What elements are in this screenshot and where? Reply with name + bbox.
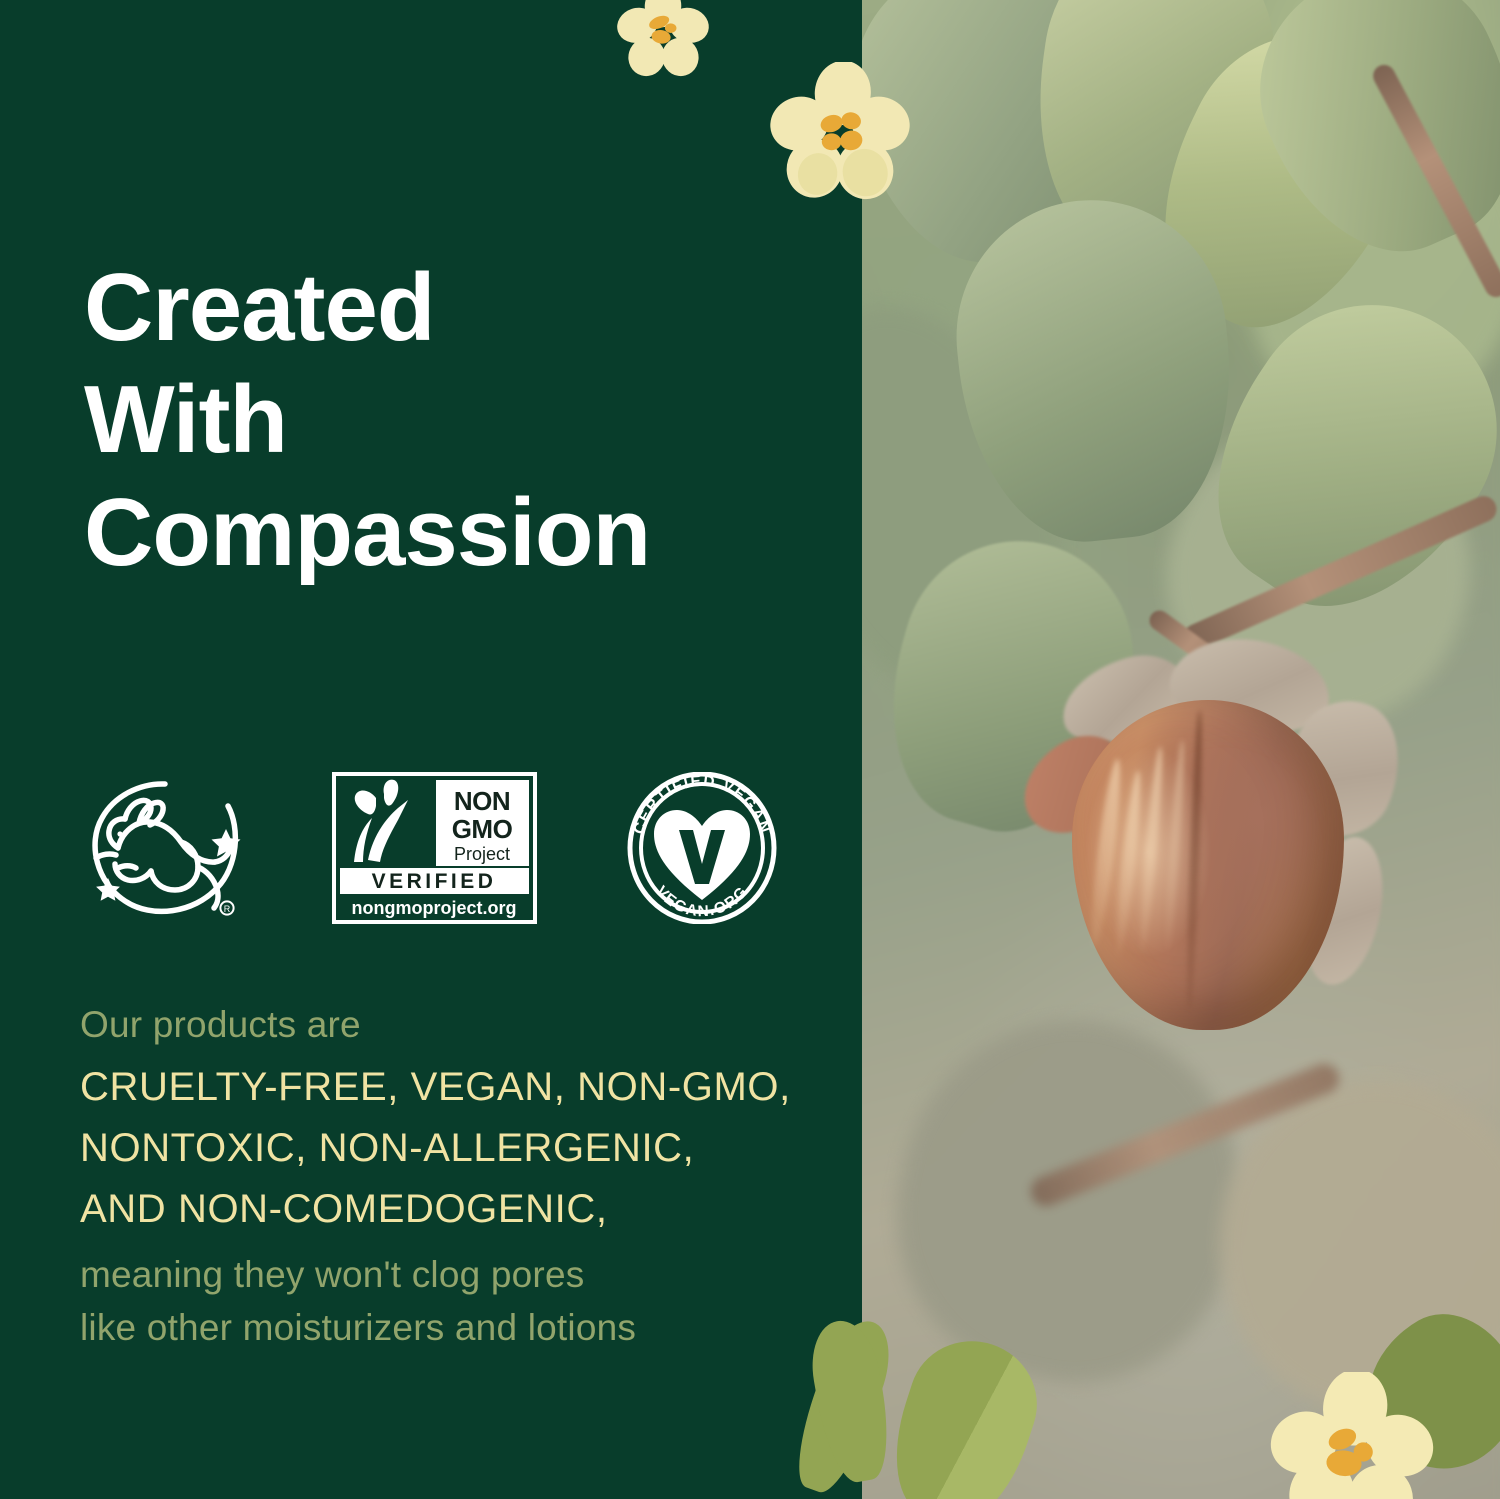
nut-ridge (1137, 746, 1166, 951)
claims-footnote: meaning they won't clog pores like other… (80, 1248, 840, 1355)
non-gmo-line-non: NON (454, 786, 510, 816)
leaping-bunny-icon: R (78, 772, 246, 924)
headline-line-3: Compassion (84, 477, 650, 589)
non-gmo-url: nongmoproject.org (352, 898, 517, 918)
flower-icon (608, 0, 718, 80)
headline-line-2: With (84, 364, 650, 476)
certified-vegan-icon: CERTIFIED VEGAN VEGAN.ORG (623, 772, 781, 924)
flower-icon (1262, 1372, 1442, 1499)
footnote-line: like other moisturizers and lotions (80, 1301, 840, 1354)
non-gmo-badge: NON GMO Project VERIFIED nongmoproject.o… (332, 772, 537, 924)
product-claims: Our products are CRUELTY-FREE, VEGAN, NO… (80, 998, 840, 1354)
registered-mark: R (224, 904, 231, 914)
page-title: Created With Compassion (84, 252, 650, 589)
non-gmo-verified-text: VERIFIED (372, 870, 497, 893)
certified-vegan-badge: CERTIFIED VEGAN VEGAN.ORG (623, 772, 781, 924)
non-gmo-line-gmo: GMO (452, 814, 513, 844)
promo-canvas: Created With Compassion (0, 0, 1500, 1499)
vegan-heart-shape (654, 810, 750, 900)
jojoba-photo (840, 0, 1500, 1499)
nut-ridge (1163, 740, 1188, 952)
claim-line: CRUELTY-FREE, VEGAN, NON-GMO, (80, 1057, 840, 1118)
decorative-flower (608, 0, 718, 85)
nut-seam (1185, 710, 1204, 1010)
headline-line-1: Created (84, 252, 650, 364)
decorative-flower (1262, 1372, 1442, 1499)
decorative-flower (760, 62, 920, 207)
leaping-bunny-badge: R (78, 772, 246, 924)
claim-line: NONTOXIC, NON-ALLERGENIC, (80, 1118, 840, 1179)
non-gmo-verified-icon: NON GMO Project VERIFIED nongmoproject.o… (332, 772, 537, 924)
claims-list: CRUELTY-FREE, VEGAN, NON-GMO, NONTOXIC, … (80, 1057, 840, 1239)
claim-line: AND NON-COMEDOGENIC, (80, 1179, 840, 1240)
claims-intro: Our products are (80, 998, 840, 1051)
non-gmo-line-project: Project (454, 844, 510, 864)
content-panel: Created With Compassion (0, 0, 862, 1499)
certification-badges: R (78, 772, 781, 924)
footnote-line: meaning they won't clog pores (80, 1248, 840, 1301)
flower-icon (760, 62, 920, 202)
